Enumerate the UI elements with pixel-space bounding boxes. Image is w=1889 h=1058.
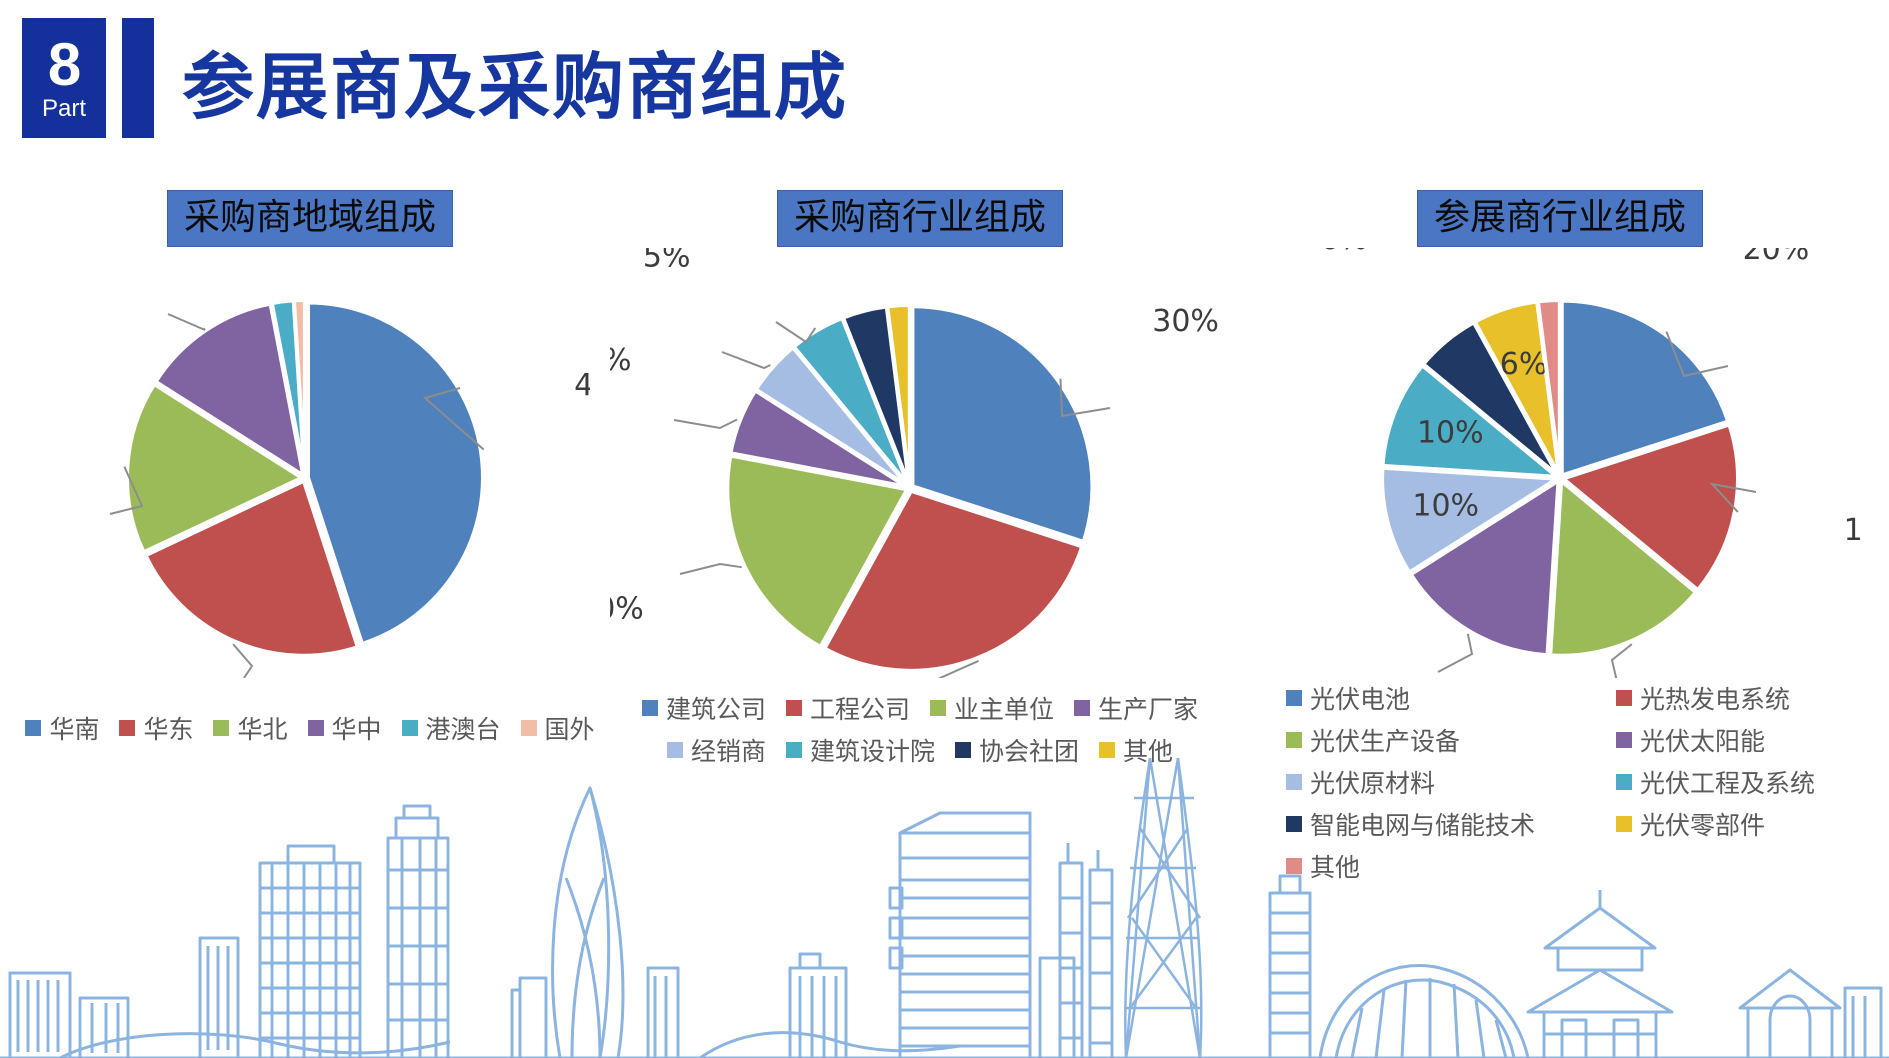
pie-slice-label: 6% bbox=[610, 343, 632, 378]
legend-item: 华南 bbox=[25, 710, 99, 746]
pie-label-leader bbox=[168, 314, 205, 330]
legend-label: 其他 bbox=[1123, 732, 1173, 768]
legend-label: 建筑设计院 bbox=[810, 732, 935, 768]
pie-slice-label: 6% bbox=[1320, 248, 1368, 257]
legend-swatch bbox=[1616, 690, 1632, 706]
legend-row: 华南华东华北华中港澳台国外 bbox=[20, 710, 600, 746]
legend-item: 光热发电系统 bbox=[1616, 680, 1889, 716]
legend-label: 国外 bbox=[545, 710, 595, 746]
legend-item: 生产厂家 bbox=[1074, 690, 1198, 726]
legend-item: 业主单位 bbox=[930, 690, 1054, 726]
pie-slice-label: 6% bbox=[1500, 347, 1548, 382]
legend-label: 光伏零部件 bbox=[1640, 806, 1765, 842]
legend-item: 光伏原材料 bbox=[1286, 764, 1616, 800]
part-number: 8 bbox=[48, 35, 80, 95]
chart-title-row: 参展商行业组成 bbox=[1250, 190, 1870, 248]
legend-item: 经销商 bbox=[667, 732, 766, 768]
pie-label-leader bbox=[233, 644, 252, 678]
legend-swatch bbox=[1286, 816, 1302, 832]
legend-label: 协会社团 bbox=[979, 732, 1079, 768]
legend-swatch bbox=[667, 742, 683, 758]
chart-title: 参展商行业组成 bbox=[1417, 190, 1703, 247]
header-accent-bar bbox=[122, 18, 154, 138]
legend-item: 光伏电池 bbox=[1286, 680, 1616, 716]
legend-label: 华南 bbox=[49, 710, 99, 746]
legend-label: 其他 bbox=[1310, 848, 1360, 884]
pie-label-leader bbox=[674, 420, 737, 428]
legend-swatch bbox=[642, 700, 658, 716]
part-badge: 8 Part bbox=[22, 18, 106, 138]
chart-panel-purchaser-industry: 采购商行业组成 30%28%20%6%5%5%4%2% 建筑公司工程公司业主单位… bbox=[600, 190, 1240, 850]
chart-legend-0: 华南华东华北华中港澳台国外 bbox=[20, 710, 600, 746]
legend-label: 工程公司 bbox=[810, 690, 910, 726]
legend-item: 华东 bbox=[119, 710, 193, 746]
pie-area: 45%23%16%13%2%1% bbox=[20, 248, 600, 678]
legend-item: 协会社团 bbox=[955, 732, 1079, 768]
pie-slice-label: 30% bbox=[1152, 304, 1219, 339]
legend-label: 经销商 bbox=[691, 732, 766, 768]
legend-item: 光伏零部件 bbox=[1616, 806, 1889, 842]
legend-item: 建筑设计院 bbox=[786, 732, 935, 768]
legend-item: 建筑公司 bbox=[642, 690, 766, 726]
legend-swatch bbox=[1099, 742, 1115, 758]
legend-item: 港澳台 bbox=[402, 710, 501, 746]
legend-label: 光伏电池 bbox=[1310, 680, 1410, 716]
legend-label: 生产厂家 bbox=[1098, 690, 1198, 726]
legend-item: 光伏生产设备 bbox=[1286, 722, 1616, 758]
legend-swatch bbox=[25, 720, 41, 736]
legend-item: 光伏工程及系统 bbox=[1616, 764, 1889, 800]
legend-label: 光伏工程及系统 bbox=[1640, 764, 1815, 800]
chart-title-row: 采购商行业组成 bbox=[600, 190, 1240, 248]
legend-label: 华中 bbox=[332, 710, 382, 746]
legend-swatch bbox=[786, 700, 802, 716]
page-header: 8 Part 参展商及采购商组成 bbox=[0, 0, 1889, 160]
legend-item: 国外 bbox=[521, 710, 595, 746]
legend-swatch bbox=[1074, 700, 1090, 716]
pie-chart-0: 45%23%16%13%2%1% bbox=[30, 248, 590, 678]
legend-label: 华北 bbox=[237, 710, 287, 746]
chart-panel-purchaser-region: 采购商地域组成 45%23%16%13%2%1% 华南华东华北华中港澳台国外 bbox=[20, 190, 600, 850]
legend-item: 工程公司 bbox=[786, 690, 910, 726]
legend-swatch bbox=[1616, 774, 1632, 790]
pie-slice-label: 5% bbox=[643, 248, 691, 275]
legend-item: 其他 bbox=[1099, 732, 1173, 768]
legend-label: 业主单位 bbox=[954, 690, 1054, 726]
pie-slice-label: 10% bbox=[1417, 416, 1484, 451]
legend-swatch bbox=[1286, 690, 1302, 706]
pie-label-leader bbox=[680, 564, 742, 574]
legend-swatch bbox=[402, 720, 418, 736]
pie-label-leader bbox=[722, 352, 770, 368]
pie-area: 20%16%15%15%10%10%6%6%2% bbox=[1250, 248, 1870, 678]
legend-swatch bbox=[1616, 816, 1632, 832]
pie-label-leader bbox=[1438, 634, 1472, 672]
legend-label: 光热发电系统 bbox=[1640, 680, 1790, 716]
legend-label: 光伏生产设备 bbox=[1310, 722, 1460, 758]
legend-label: 港澳台 bbox=[426, 710, 501, 746]
legend-item: 其他 bbox=[1286, 848, 1616, 884]
pie-slice-label: 16% bbox=[1844, 513, 1860, 548]
page-title: 参展商及采购商组成 bbox=[182, 28, 848, 133]
legend-row: 建筑公司工程公司业主单位生产厂家 bbox=[600, 690, 1240, 726]
legend-item: 华中 bbox=[308, 710, 382, 746]
pie-chart-2: 20%16%15%15%10%10%6%6%2% bbox=[1260, 248, 1860, 678]
pie-slice-label: 20% bbox=[1743, 248, 1810, 267]
legend-row: 经销商建筑设计院协会社团其他 bbox=[600, 732, 1240, 768]
pie-area: 30%28%20%6%5%5%4%2% bbox=[600, 248, 1240, 678]
chart-title-row: 采购商地域组成 bbox=[20, 190, 600, 248]
legend-label: 光伏太阳能 bbox=[1640, 722, 1765, 758]
part-word-label: Part bbox=[42, 97, 86, 121]
pie-slice-label: 45% bbox=[574, 368, 590, 403]
legend-item: 光伏太阳能 bbox=[1616, 722, 1889, 758]
legend-item: 华北 bbox=[213, 710, 287, 746]
chart-panel-exhibitor-industry: 参展商行业组成 20%16%15%15%10%10%6%6%2% 光伏电池光热发… bbox=[1250, 190, 1870, 850]
legend-item: 智能电网与储能技术 bbox=[1286, 806, 1616, 842]
pie-slice-label: 20% bbox=[610, 591, 644, 626]
legend-swatch bbox=[119, 720, 135, 736]
chart-legend-2: 光伏电池光热发电系统光伏生产设备光伏太阳能光伏原材料光伏工程及系统智能电网与储能… bbox=[1250, 680, 1870, 884]
legend-label: 建筑公司 bbox=[666, 690, 766, 726]
legend-label: 光伏原材料 bbox=[1310, 764, 1435, 800]
legend-swatch bbox=[213, 720, 229, 736]
legend-swatch bbox=[1286, 732, 1302, 748]
chart-title: 采购商行业组成 bbox=[777, 190, 1063, 247]
pie-chart-1: 30%28%20%6%5%5%4%2% bbox=[610, 248, 1230, 678]
legend-grid: 光伏电池光热发电系统光伏生产设备光伏太阳能光伏原材料光伏工程及系统智能电网与储能… bbox=[1286, 680, 1870, 884]
legend-swatch bbox=[308, 720, 324, 736]
legend-swatch bbox=[521, 720, 537, 736]
legend-swatch bbox=[1286, 858, 1302, 874]
legend-label: 华东 bbox=[143, 710, 193, 746]
chart-legend-1: 建筑公司工程公司业主单位生产厂家 经销商建筑设计院协会社团其他 bbox=[600, 690, 1240, 768]
legend-swatch bbox=[786, 742, 802, 758]
legend-swatch bbox=[955, 742, 971, 758]
chart-title: 采购商地域组成 bbox=[167, 190, 453, 247]
legend-swatch bbox=[1616, 732, 1632, 748]
pie-slice-label: 10% bbox=[1412, 488, 1479, 523]
legend-swatch bbox=[930, 700, 946, 716]
legend-swatch bbox=[1286, 774, 1302, 790]
legend-label: 智能电网与储能技术 bbox=[1310, 806, 1535, 842]
